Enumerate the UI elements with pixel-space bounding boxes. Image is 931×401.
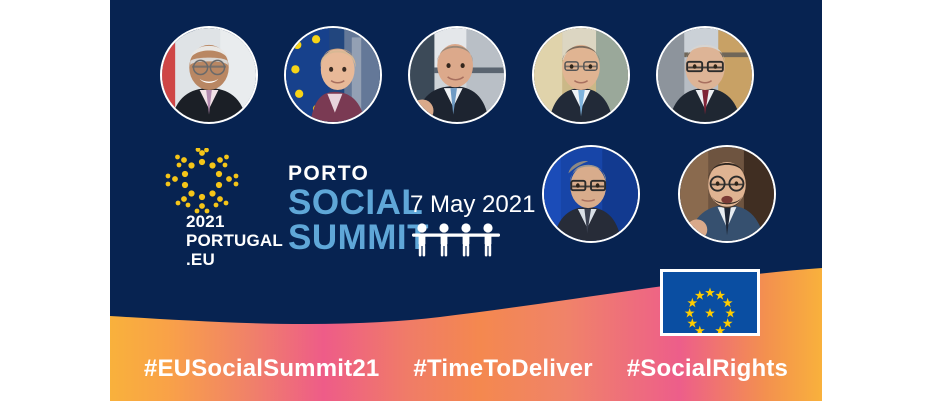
porto-social-summit-banner: 2021 PORTUGAL .EU PORTO SOCIAL SUMMIT 7 …: [0, 0, 931, 401]
portrait-7-photo: [680, 147, 774, 241]
summit-date-text: 7 May 2021: [410, 192, 535, 218]
summit-social-text: SOCIAL: [288, 185, 423, 221]
portrait-2: [284, 26, 382, 124]
presidency-logo-wordmark: 2021 PORTUGAL .EU: [186, 212, 283, 269]
portrait-5: [656, 26, 754, 124]
banner-artwork: 2021 PORTUGAL .EU PORTO SOCIAL SUMMIT 7 …: [110, 0, 822, 401]
presidency-logo-country: PORTUGAL: [186, 231, 283, 250]
portrait-4-photo: [534, 28, 628, 122]
presidency-logo-year: 2021: [186, 212, 283, 231]
presidency-logo-tld: .EU: [186, 250, 283, 269]
portrait-2-photo: [286, 28, 380, 122]
summit-lockup: PORTO SOCIAL SUMMIT 7 May 2021: [288, 163, 618, 259]
portrait-3: [408, 26, 506, 124]
portrait-7: [678, 145, 776, 243]
summit-summit-text: SUMMIT: [288, 220, 429, 256]
portrait-4: [532, 26, 630, 124]
portrait-1: [160, 26, 258, 124]
hashtag-social-rights: #SocialRights: [627, 355, 788, 383]
sun-dots-icon: [164, 148, 240, 214]
hashtag-time-to-deliver: #TimeToDeliver: [413, 355, 592, 383]
summit-porto-text: PORTO: [288, 163, 369, 185]
hashtag-eu-social-summit-21: #EUSocialSummit21: [144, 355, 380, 383]
portrait-5-photo: [658, 28, 752, 122]
portrait-3-photo: [410, 28, 504, 122]
portugal-presidency-logo: 2021 PORTUGAL .EU: [158, 148, 280, 270]
hashtag-row: #EUSocialSummit21 #TimeToDeliver #Social…: [110, 355, 822, 383]
portrait-1-photo: [162, 28, 256, 122]
eu-flag-icon: [660, 269, 760, 336]
four-people-holding-hands-icon: [410, 222, 502, 258]
